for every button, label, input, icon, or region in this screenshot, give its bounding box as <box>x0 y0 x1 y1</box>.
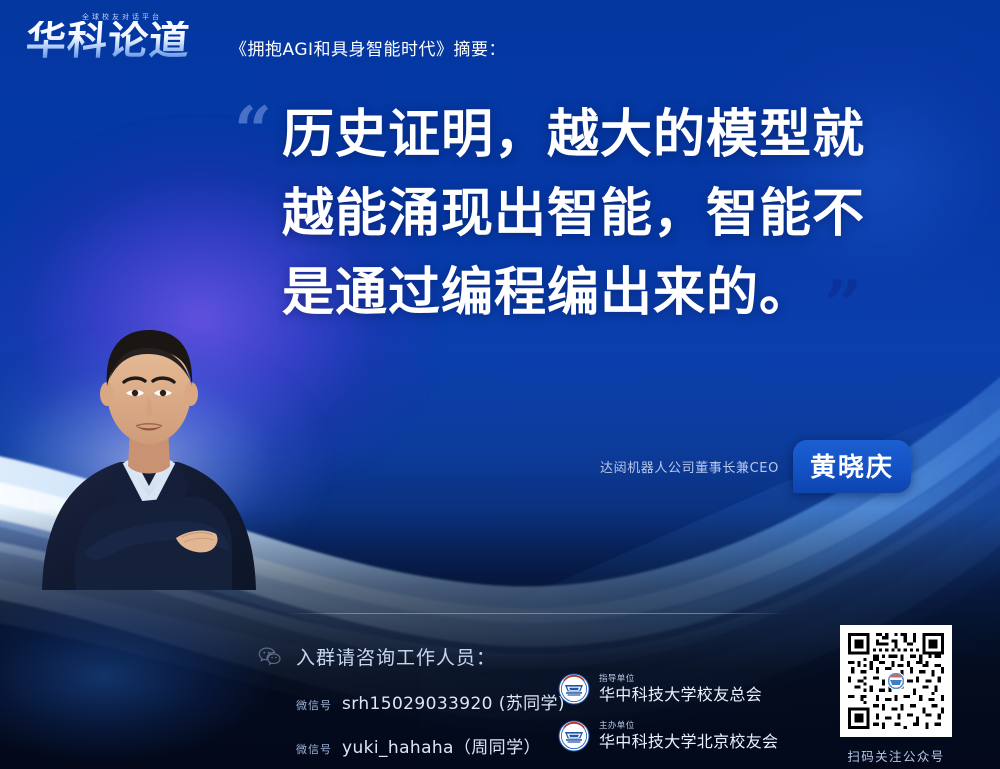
quote-block: “ ” 历史证明，越大的模型就 越能涌现出智能，智能不 是通过编程编出来的。 <box>232 96 932 333</box>
quote-line: 越能涌现出智能，智能不 <box>282 175 932 254</box>
contact-header: 入群请咨询工作人员： <box>258 643 565 670</box>
speaker-role: 达闼机器人公司董事长兼CEO <box>600 457 779 476</box>
contact-title: 入群请咨询工作人员： <box>296 643 496 670</box>
contact-row: 微信号 srh15029033920 (苏同学) <box>258 689 565 714</box>
speaker-name: 黄晓庆 <box>810 453 894 483</box>
speaker-portrait <box>24 290 274 590</box>
wechat-id[interactable]: srh15029033920 (苏同学) <box>342 689 565 714</box>
qr-code[interactable] <box>840 625 952 737</box>
poster-header: 全球校友对话平台 华科论道 《拥抱AGI和具身智能时代》摘要： <box>26 14 506 66</box>
quote-lines: 历史证明，越大的模型就 越能涌现出智能，智能不 是通过编程编出来的。 <box>232 96 932 333</box>
organization-row: 主办单位 华中科技大学北京校友会 <box>558 720 778 752</box>
brand-logo[interactable]: 全球校友对话平台 华科论道 <box>26 14 212 66</box>
page-title: 《拥抱AGI和具身智能时代》摘要： <box>230 35 506 66</box>
wechat-label: 微信号 <box>296 697 332 713</box>
logo-text: 华科论道 <box>25 21 192 61</box>
wechat-label: 微信号 <box>296 741 332 757</box>
university-seal-icon <box>558 720 590 752</box>
speaker-name-badge: 黄晓庆 <box>793 440 911 493</box>
organization-text: 指导单位 华中科技大学校友总会 <box>599 675 762 703</box>
wechat-id[interactable]: yuki_hahaha（周同学） <box>342 733 541 758</box>
contact-section: 入群请咨询工作人员： 微信号 srh15029033920 (苏同学) 微信号 … <box>258 643 565 758</box>
quote-line: 历史证明，越大的模型就 <box>282 96 932 175</box>
organization-text: 主办单位 华中科技大学北京校友会 <box>599 722 778 750</box>
speaker-attribution: 达闼机器人公司董事长兼CEO 黄晓庆 <box>600 440 911 493</box>
poster-footer: 入群请咨询工作人员： 微信号 srh15029033920 (苏同学) 微信号 … <box>0 609 1000 769</box>
organization-name: 华中科技大学校友总会 <box>599 687 762 703</box>
contact-row: 微信号 yuki_hahaha（周同学） <box>258 733 565 758</box>
organization-kind: 主办单位 <box>599 722 778 731</box>
footer-divider <box>288 613 788 614</box>
organization-row: 指导单位 华中科技大学校友总会 <box>558 673 778 705</box>
poster-canvas: 全球校友对话平台 华科论道 《拥抱AGI和具身智能时代》摘要： “ ” 历史证明… <box>0 0 1000 769</box>
organization-name: 华中科技大学北京校友会 <box>599 734 778 750</box>
wechat-icon <box>258 647 282 667</box>
qr-caption: 扫码关注公众号 <box>834 746 958 765</box>
organizations-section: 指导单位 华中科技大学校友总会 主办单位 <box>558 673 778 767</box>
qr-section: 扫码关注公众号 <box>834 625 958 765</box>
university-seal-icon <box>558 673 590 705</box>
organization-kind: 指导单位 <box>599 675 762 684</box>
quote-line: 是通过编程编出来的。 <box>282 254 932 333</box>
